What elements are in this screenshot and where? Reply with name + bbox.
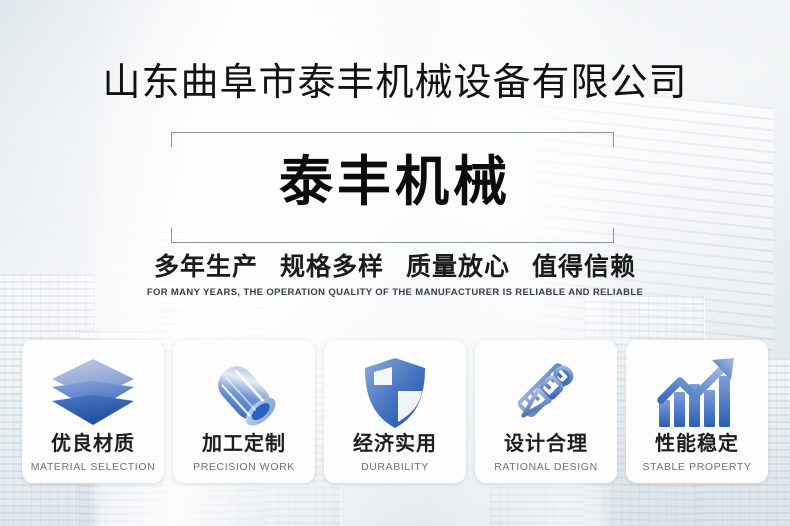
feature-label-en: RATIONAL DESIGN — [494, 462, 598, 473]
tagline-subtitle: FOR MANY YEARS, THE OPERATION QUALITY OF… — [0, 288, 790, 298]
feature-card-rational-design[interactable]: 设计合理 RATIONAL DESIGN — [475, 340, 617, 483]
frame-corner-bottom-right — [589, 228, 614, 243]
frame-rule-bottom — [195, 242, 590, 243]
feature-card-precision-work[interactable]: 加工定制 PRECISION WORK — [173, 340, 315, 483]
feature-label-en: PRECISION WORK — [193, 462, 295, 473]
ruler-pen-icon — [506, 354, 586, 432]
feature-label-en: MATERIAL SELECTION — [31, 462, 156, 473]
feature-label-en: STABLE PROPERTY — [643, 462, 752, 473]
frame-corner-top-left — [171, 132, 196, 147]
feature-label-cn: 经济实用 — [353, 434, 437, 454]
promo-banner: 山东曲阜市泰丰机械设备有限公司 泰丰机械 多年生产 规格多样 质量放心 值得信赖… — [0, 0, 790, 526]
frame-corner-top-right — [589, 132, 614, 147]
tagline-part: 多年生产 — [154, 253, 258, 281]
feature-label-en: DURABILITY — [361, 462, 429, 473]
feature-card-material-selection[interactable]: 优良材质 MATERIAL SELECTION — [22, 340, 164, 483]
tagline-part: 值得信赖 — [532, 253, 636, 281]
growth-chart-icon — [654, 354, 740, 432]
layers-icon — [50, 354, 136, 432]
feature-card-stable-property[interactable]: 性能稳定 STABLE PROPERTY — [626, 340, 768, 483]
company-name: 山东曲阜市泰丰机械设备有限公司 — [0, 64, 790, 102]
tagline-part: 规格多样 — [280, 253, 384, 281]
frame-rule-top — [195, 132, 590, 133]
brand-title: 泰丰机械 — [0, 155, 790, 209]
feature-label-cn: 设计合理 — [504, 434, 588, 454]
frame-corner-bottom-left — [171, 228, 196, 243]
tagline: 多年生产 规格多样 质量放心 值得信赖 — [0, 255, 790, 280]
feature-label-cn: 性能稳定 — [655, 434, 739, 454]
tagline-part: 质量放心 — [406, 253, 510, 281]
feature-label-cn: 加工定制 — [202, 434, 286, 454]
pipe-icon — [203, 354, 285, 432]
feature-label-cn: 优良材质 — [51, 434, 135, 454]
feature-card-durability[interactable]: 经济实用 DURABILITY — [324, 340, 466, 483]
shield-icon — [362, 354, 428, 432]
feature-card-list: 优良材质 MATERIAL SELECTION — [22, 340, 768, 483]
